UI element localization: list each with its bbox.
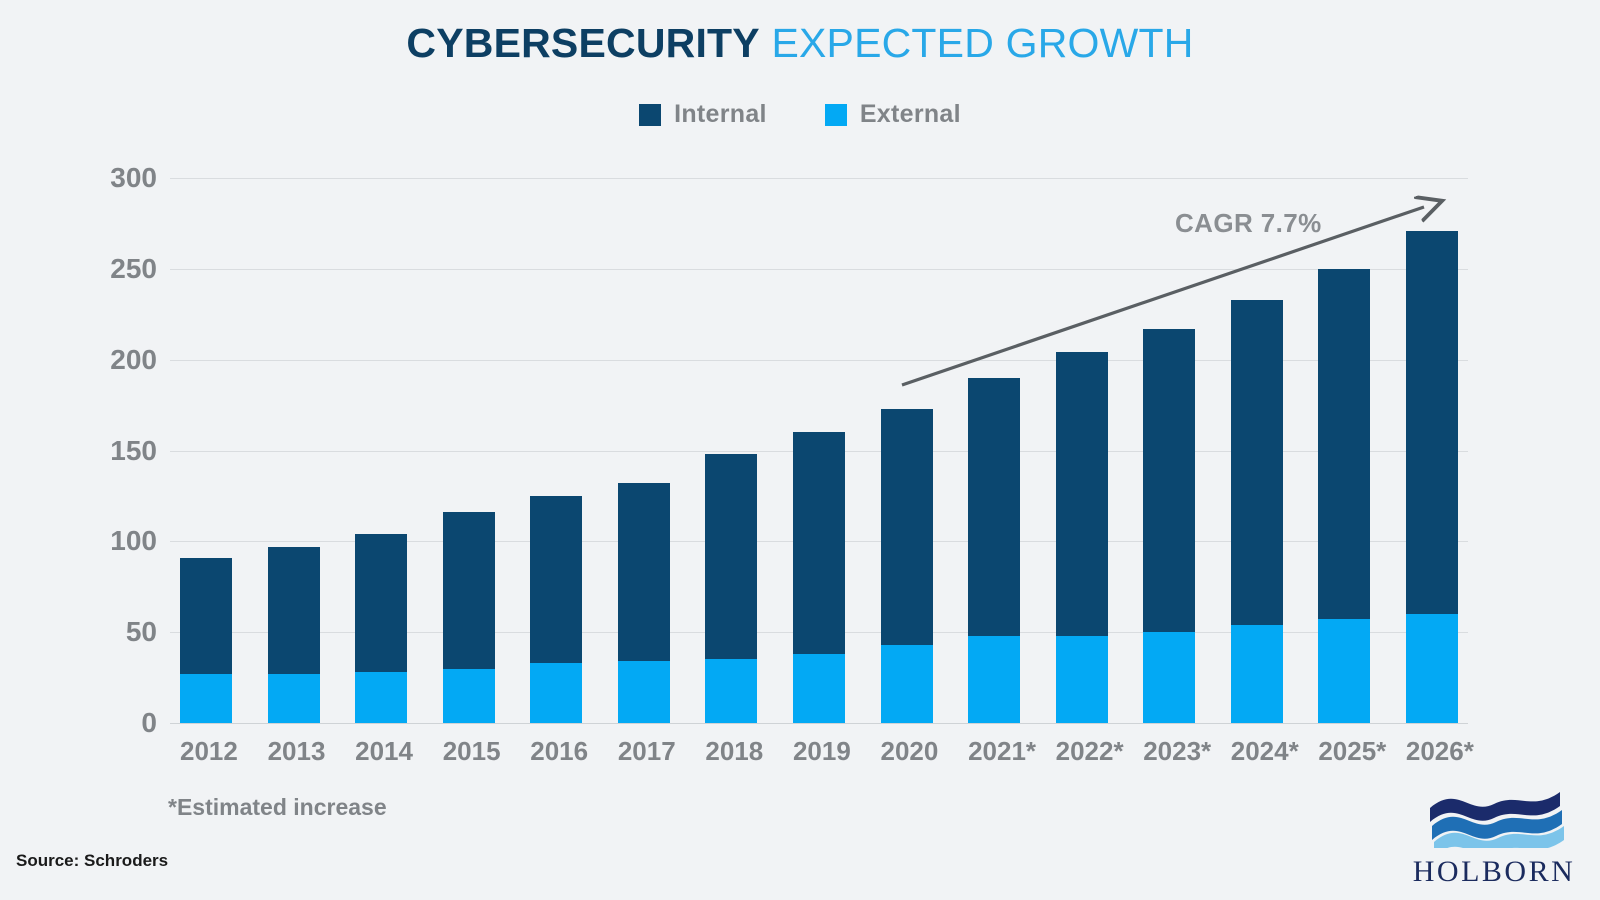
title-strong: CYBERSECURITY: [406, 20, 759, 66]
bar-segment-external[interactable]: [1056, 636, 1108, 723]
bar-segment-internal[interactable]: [180, 558, 232, 674]
x-tick-2026-est: 2026*: [1406, 736, 1458, 767]
bar-segment-internal[interactable]: [793, 432, 845, 654]
y-tick-200: 200: [110, 344, 157, 376]
bar-segment-external[interactable]: [1318, 619, 1370, 723]
bar-segment-internal[interactable]: [705, 454, 757, 659]
legend-label-internal: Internal: [674, 100, 767, 129]
bar-2013[interactable]: [268, 178, 320, 723]
bar-segment-internal[interactable]: [968, 378, 1020, 636]
x-tick-2016: 2016: [530, 736, 582, 767]
bar-segment-external[interactable]: [793, 654, 845, 723]
x-tick-2017: 2017: [618, 736, 670, 767]
holborn-logo: HOLBORN: [1410, 782, 1578, 882]
y-tick-300: 300: [110, 162, 157, 194]
legend-item-external: External: [825, 100, 961, 129]
y-tick-150: 150: [110, 435, 157, 467]
bar-segment-external[interactable]: [618, 661, 670, 723]
bar-segment-external[interactable]: [443, 669, 495, 724]
chart-legend: Internal External: [0, 100, 1600, 129]
bar-segment-internal[interactable]: [443, 512, 495, 668]
x-tick-2013: 2013: [268, 736, 320, 767]
holborn-wordmark: HOLBORN: [1410, 855, 1578, 889]
x-tick-2023-est: 2023*: [1143, 736, 1195, 767]
bar-segment-external[interactable]: [530, 663, 582, 723]
legend-label-external: External: [860, 100, 961, 129]
x-tick-2020: 2020: [881, 736, 933, 767]
x-tick-2022-est: 2022*: [1056, 736, 1108, 767]
bar-segment-external[interactable]: [1231, 625, 1283, 723]
bar-segment-internal[interactable]: [530, 496, 582, 663]
source-label: Source: Schroders: [16, 851, 168, 871]
x-tick-2025-est: 2025*: [1318, 736, 1370, 767]
cagr-trend-arrow-icon: [880, 185, 1460, 400]
x-tick-2021-est: 2021*: [968, 736, 1020, 767]
legend-swatch-internal-icon: [639, 104, 661, 126]
bar-segment-internal[interactable]: [355, 534, 407, 672]
legend-item-internal: Internal: [639, 100, 767, 129]
chart-page: CYBERSECURITY EXPECTED GROWTH Internal E…: [0, 0, 1600, 900]
bar-segment-external[interactable]: [180, 674, 232, 723]
y-tick-0: 0: [141, 707, 157, 739]
y-axis-labels: 050100150200250300: [95, 178, 157, 723]
title-light: EXPECTED GROWTH: [771, 20, 1193, 66]
bar-segment-internal[interactable]: [881, 409, 933, 645]
gridline-0: [170, 723, 1468, 724]
bar-2018[interactable]: [705, 178, 757, 723]
y-tick-50: 50: [126, 616, 157, 648]
x-tick-2024-est: 2024*: [1231, 736, 1283, 767]
holborn-wave-icon: [1410, 782, 1578, 848]
bar-2019[interactable]: [793, 178, 845, 723]
bar-segment-external[interactable]: [268, 674, 320, 723]
bar-segment-internal[interactable]: [268, 547, 320, 674]
x-axis-labels: 2012201320142015201620172018201920202021…: [170, 728, 1468, 774]
page-title: CYBERSECURITY EXPECTED GROWTH: [0, 20, 1600, 67]
bar-segment-internal[interactable]: [618, 483, 670, 661]
bar-segment-external[interactable]: [355, 672, 407, 723]
legend-swatch-external-icon: [825, 104, 847, 126]
cagr-label: CAGR 7.7%: [1175, 208, 1322, 239]
x-tick-2012: 2012: [180, 736, 232, 767]
bar-segment-external[interactable]: [1143, 632, 1195, 723]
bar-segment-external[interactable]: [881, 645, 933, 723]
bar-2012[interactable]: [180, 178, 232, 723]
bar-segment-external[interactable]: [1406, 614, 1458, 723]
bar-2014[interactable]: [355, 178, 407, 723]
x-tick-2018: 2018: [705, 736, 757, 767]
bar-2017[interactable]: [618, 178, 670, 723]
x-tick-2019: 2019: [793, 736, 845, 767]
bar-2015[interactable]: [443, 178, 495, 723]
y-tick-250: 250: [110, 253, 157, 285]
bar-segment-external[interactable]: [705, 659, 757, 723]
x-tick-2015: 2015: [443, 736, 495, 767]
y-tick-100: 100: [110, 525, 157, 557]
bar-segment-external[interactable]: [968, 636, 1020, 723]
estimated-footnote: *Estimated increase: [168, 794, 387, 821]
x-tick-2014: 2014: [355, 736, 407, 767]
bar-2016[interactable]: [530, 178, 582, 723]
